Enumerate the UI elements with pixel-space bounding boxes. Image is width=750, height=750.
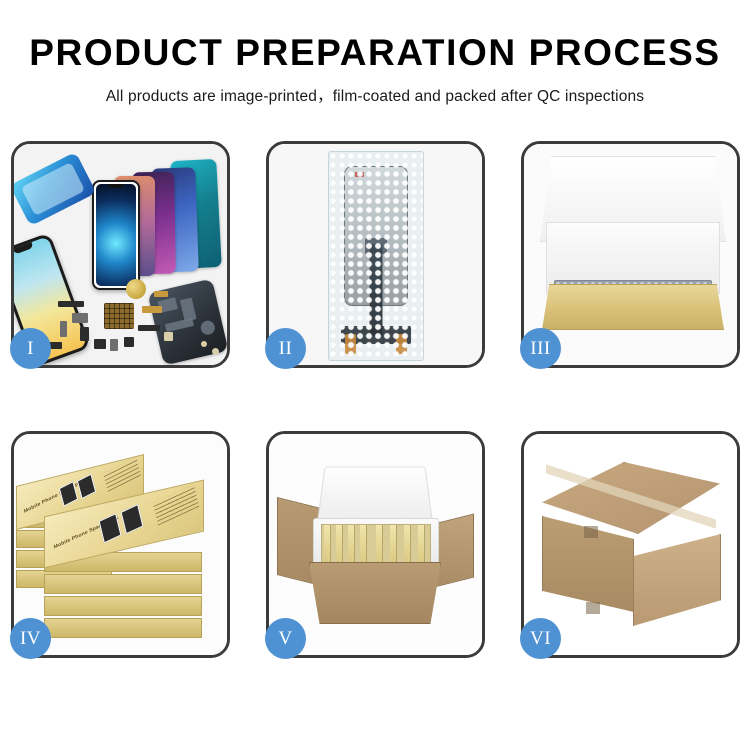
process-step-1: I <box>11 141 230 368</box>
carton-seam <box>584 526 598 538</box>
step-4-image: Mobile Phone Spare Parts Mobile Phone Sp… <box>14 434 227 655</box>
step-3-image <box>524 144 737 365</box>
small-part <box>94 339 106 349</box>
small-part <box>138 325 160 331</box>
screen-artwork <box>96 184 136 286</box>
process-step-6: VI <box>521 431 740 658</box>
small-part <box>58 301 84 307</box>
bubble-wrap-bag <box>328 151 424 361</box>
small-part <box>110 339 118 351</box>
small-part <box>164 332 173 341</box>
step-badge-3: III <box>520 328 561 369</box>
phone-notch <box>108 184 124 188</box>
bubble-texture <box>329 152 423 360</box>
small-part <box>142 306 162 313</box>
phone-front-glass <box>92 180 140 290</box>
process-step-grid: I II <box>11 141 739 658</box>
vibration-motor-part <box>126 279 146 299</box>
stacked-box <box>44 596 202 616</box>
carton-body <box>309 562 441 624</box>
step-2-image <box>269 144 482 365</box>
step-1-image <box>14 144 227 365</box>
gold-boxes-inside <box>321 524 431 566</box>
step-6-image <box>524 434 737 655</box>
step-5-image <box>269 434 482 655</box>
product-preparation-infographic: PRODUCT PREPARATION PROCESS All products… <box>0 0 750 750</box>
box-artwork <box>77 474 96 499</box>
header: PRODUCT PREPARATION PROCESS All products… <box>0 0 750 106</box>
box-spec-lines <box>103 457 141 492</box>
small-part <box>154 291 168 297</box>
carton-seam <box>586 602 600 614</box>
small-part <box>80 327 89 341</box>
process-step-2: II <box>266 141 485 368</box>
small-part <box>201 341 207 347</box>
gold-box-tray <box>542 284 724 330</box>
speaker-mesh-part <box>104 303 134 329</box>
step-badge-5: V <box>265 618 306 659</box>
page-title: PRODUCT PREPARATION PROCESS <box>0 34 750 73</box>
small-part <box>124 337 134 347</box>
foam-lid <box>317 467 433 524</box>
small-part <box>72 313 88 323</box>
process-step-3: III <box>521 141 740 368</box>
process-step-4: Mobile Phone Spare Parts Mobile Phone Sp… <box>11 431 230 658</box>
small-part <box>60 321 67 337</box>
box-artwork <box>121 504 144 534</box>
stacked-box <box>44 574 202 594</box>
step-badge-4: IV <box>10 618 51 659</box>
step-badge-6: VI <box>520 618 561 659</box>
step-badge-1: I <box>10 328 51 369</box>
stacked-box <box>44 618 202 638</box>
small-part <box>212 348 219 355</box>
box-spec-lines <box>153 484 199 525</box>
process-step-5: V <box>266 431 485 658</box>
page-subtitle: All products are image-printed，film-coat… <box>0 84 750 106</box>
step-badge-2: II <box>265 328 306 369</box>
